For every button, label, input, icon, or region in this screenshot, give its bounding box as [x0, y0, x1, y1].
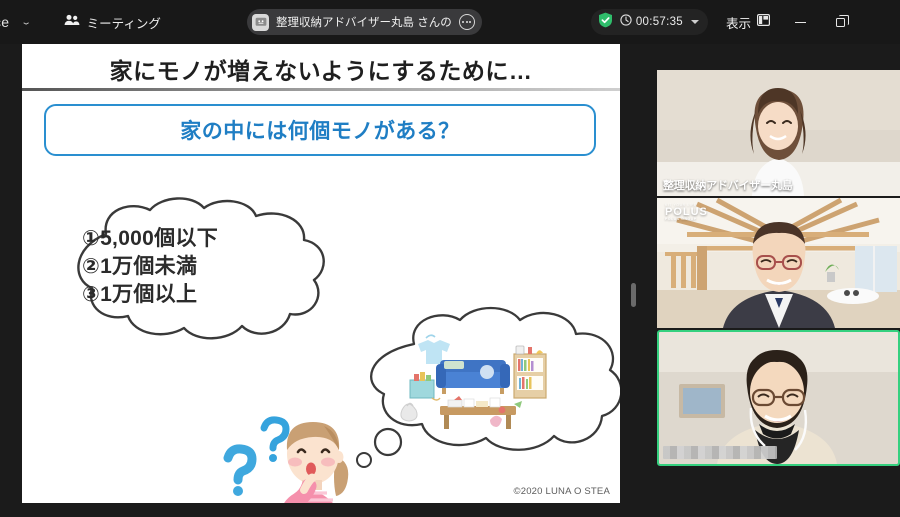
view-menu-button[interactable]: 表示: [716, 9, 780, 35]
more-options-icon[interactable]: [459, 14, 475, 30]
meeting-tab[interactable]: ミーティング: [64, 13, 161, 32]
thought-bubble-living-room: [344, 302, 620, 477]
slide-copyright: ©2020 LUNA O STEA: [514, 486, 610, 497]
chevron-down-icon[interactable]: ⌄: [15, 18, 37, 27]
participant-video-rail: 整理収納アドバイザー丸島: [657, 70, 900, 468]
question-text: 家の中には何個モノがある？: [180, 115, 460, 145]
list-item: ①5,000個以下: [82, 225, 218, 253]
thinking-woman-illustration: [212, 412, 357, 503]
titlebar-left-group: ce ⌄ ミーティング: [0, 13, 161, 32]
option-list: ①5,000個以下 ②1万個未満 ③1万個以上: [82, 225, 218, 309]
list-item: ②1万個未満: [82, 253, 218, 281]
screen-share-icon: [252, 14, 269, 31]
window-title-bar: ce ⌄ ミーティング: [0, 0, 900, 44]
chevron-down-icon[interactable]: [691, 20, 699, 24]
shield-check-icon: [598, 12, 613, 33]
video-tile-active-speaker[interactable]: [657, 330, 900, 466]
title-divider: [22, 88, 620, 91]
list-item: ③1万個以上: [82, 281, 218, 309]
shared-slide-area[interactable]: 家にモノが増えないようにするために… 家の中には何個モノがある？ ①5,000個…: [22, 44, 620, 503]
video-tile[interactable]: 整理収納アドバイザー丸島: [657, 70, 900, 196]
meeting-timer-value: 00:57:35: [636, 16, 683, 28]
meeting-tab-label: ミーティング: [87, 13, 161, 32]
people-icon: [64, 13, 80, 31]
panel-splitter-handle[interactable]: [631, 283, 636, 307]
participant-name-label-blurred: [663, 446, 777, 459]
teams-meeting-window: ce ⌄ ミーティング: [0, 0, 900, 517]
view-menu-label: 表示: [726, 13, 751, 32]
clock-icon: [620, 13, 632, 31]
shared-content-label: 整理収納アドバイザー丸島 さんの: [276, 14, 452, 30]
meeting-status-group[interactable]: 00:57:35: [591, 9, 708, 35]
layout-icon: [757, 13, 770, 31]
video-tile[interactable]: KIT YOUR LIFE POLUS POLUS GROUP: [657, 198, 900, 328]
meeting-timer: 00:57:35: [620, 13, 683, 31]
titlebar-right-group: 00:57:35 表示: [591, 0, 900, 44]
restore-icon[interactable]: [820, 0, 860, 44]
polus-watermark: KIT YOUR LIFE POLUS POLUS GROUP: [665, 204, 708, 222]
minimize-icon[interactable]: [780, 0, 820, 44]
close-icon[interactable]: [860, 0, 900, 44]
participant-name-label: 整理収納アドバイザー丸島: [663, 177, 793, 193]
app-name-label: ce: [0, 14, 9, 30]
question-box: 家の中には何個モノがある？: [44, 104, 596, 156]
slide-title: 家にモノが増えないようにするために…: [22, 52, 620, 86]
bookshelf-illustration: [514, 346, 546, 398]
shared-content-pill[interactable]: 整理収納アドバイザー丸島 さんの: [247, 9, 482, 35]
question-mark-icon: [228, 420, 286, 496]
window-controls: [780, 0, 900, 44]
